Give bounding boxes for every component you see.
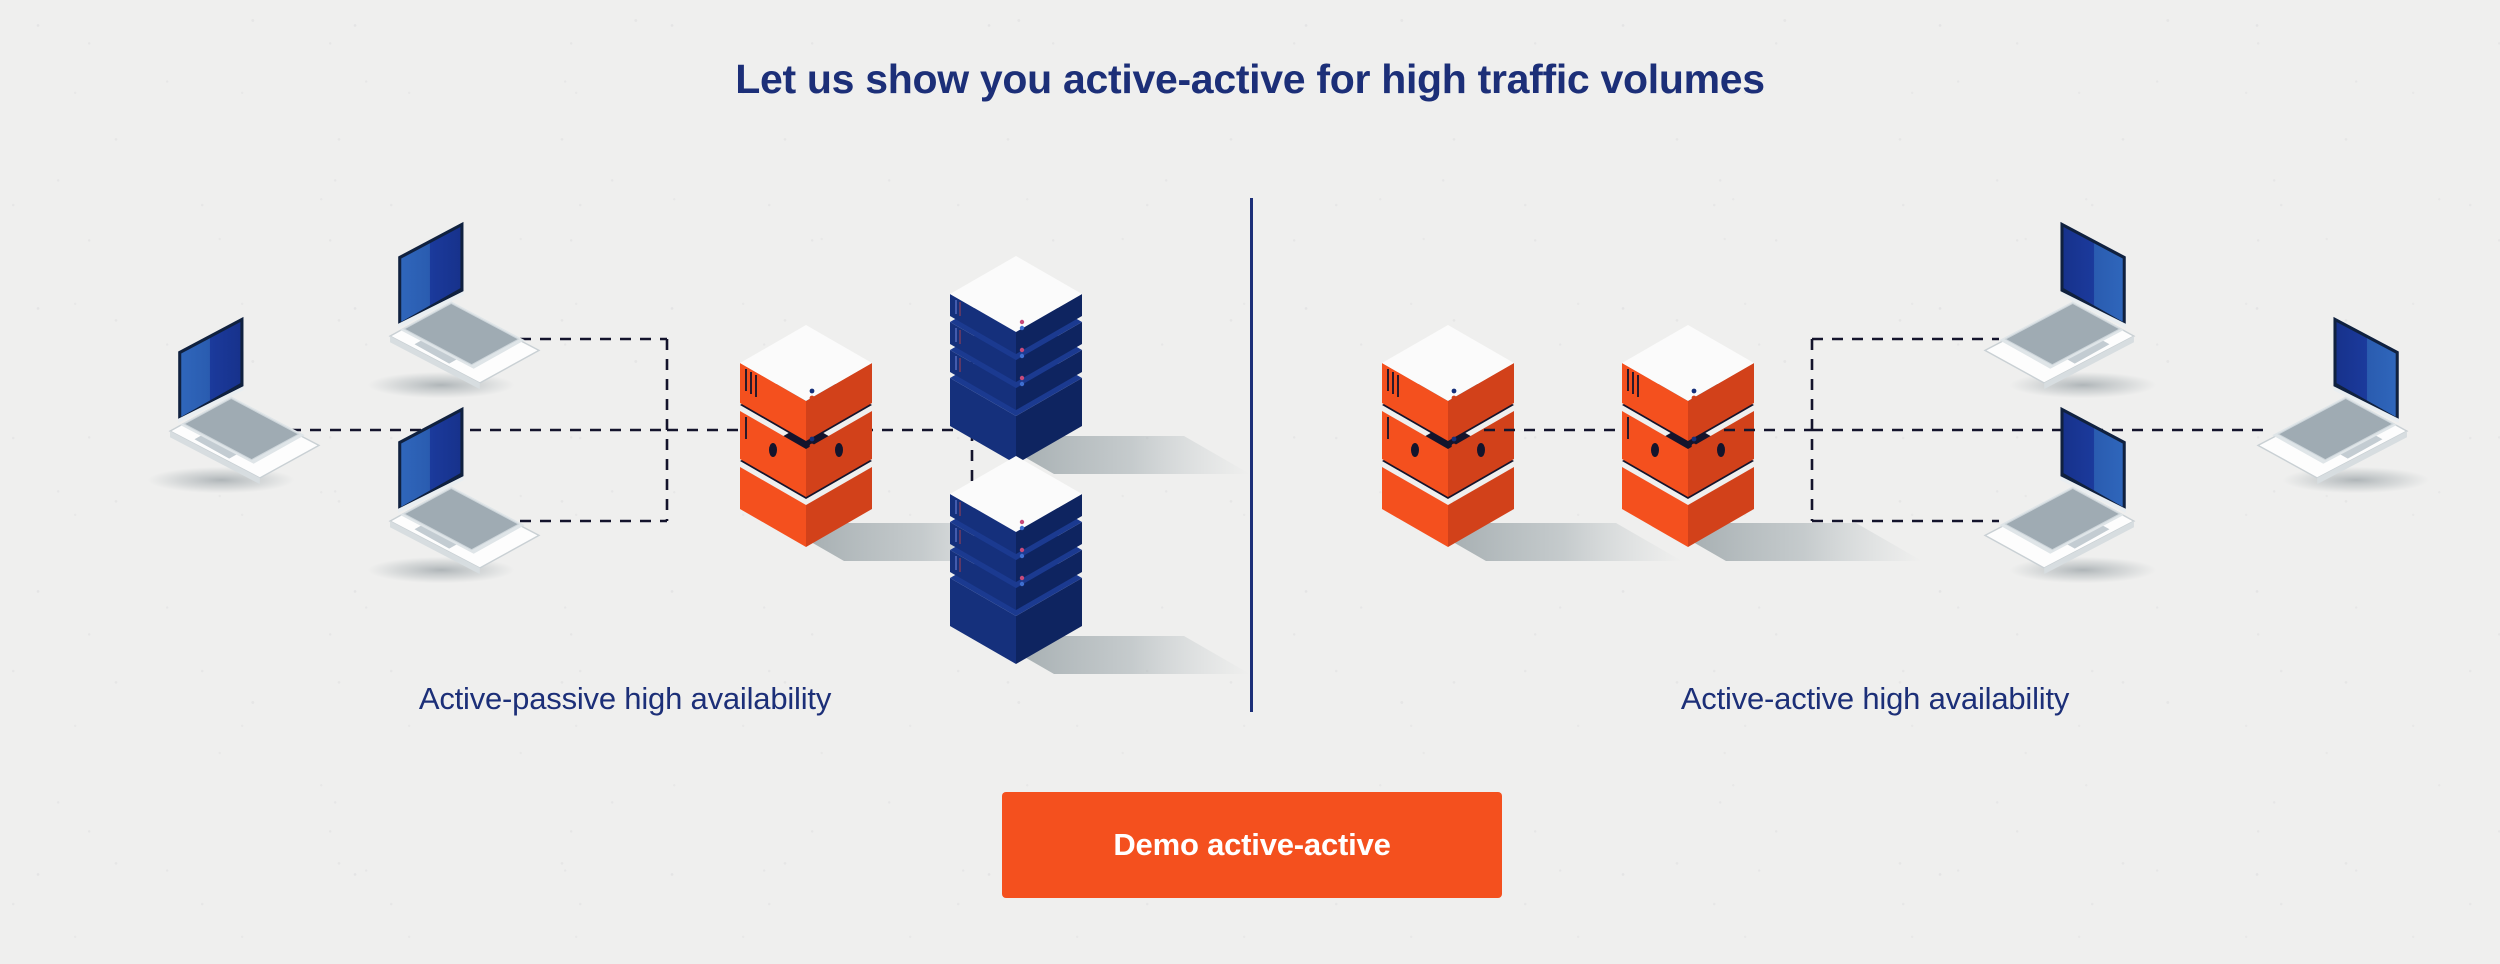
- client-laptop-right-1[interactable]: [1985, 222, 2156, 398]
- client-laptop-left-2[interactable]: [368, 222, 539, 398]
- panel-active-active: [1382, 222, 2429, 583]
- client-laptop-right-2[interactable]: [1985, 407, 2156, 583]
- client-bus-left: [290, 339, 742, 521]
- standby-server-bottom[interactable]: [950, 456, 1250, 674]
- active-server-2[interactable]: [1622, 325, 1922, 561]
- vertical-divider: [1250, 198, 1253, 712]
- demo-active-active-button[interactable]: Demo active-active: [1002, 792, 1502, 898]
- client-laptop-left-3[interactable]: [368, 407, 539, 583]
- client-laptop-left-1[interactable]: [148, 317, 319, 493]
- caption-active-passive: Active-passive high availability: [0, 681, 1250, 717]
- hero-section: Let us show you active-active for high t…: [0, 0, 2500, 964]
- caption-active-active: Active-active high availability: [1250, 681, 2500, 717]
- client-laptop-right-3[interactable]: [2258, 317, 2429, 493]
- standby-server-top[interactable]: [950, 256, 1250, 474]
- panel-active-passive: [148, 222, 1250, 674]
